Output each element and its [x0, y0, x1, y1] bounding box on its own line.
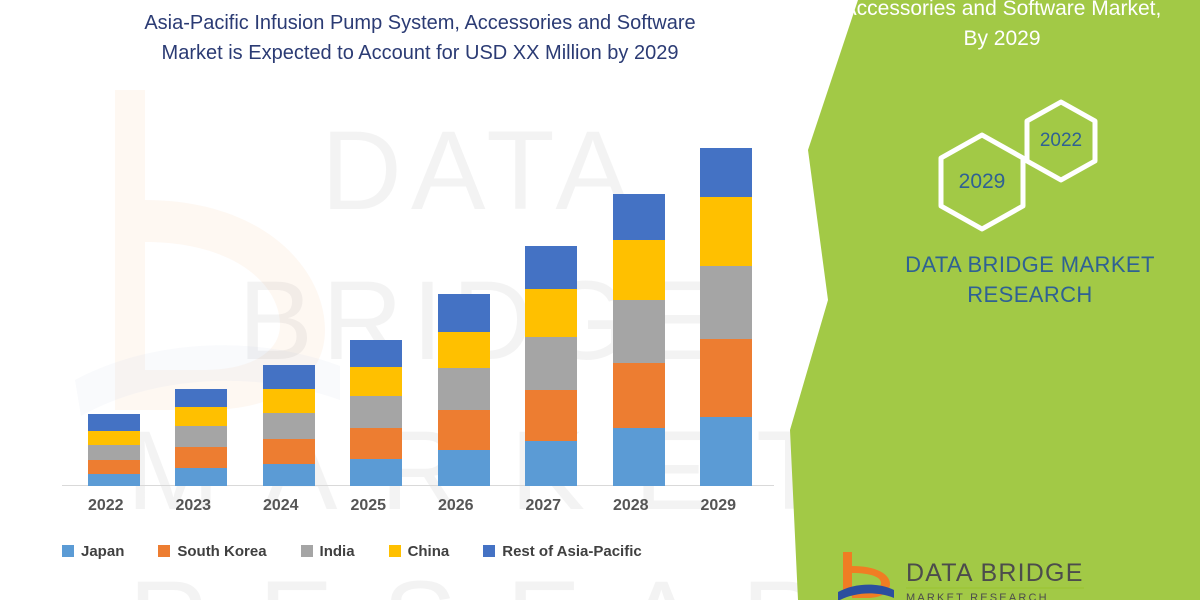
legend-label: India — [320, 543, 355, 560]
bar-segment-japan — [438, 450, 490, 486]
legend-swatch-icon — [389, 545, 401, 557]
legend-item-india[interactable]: India — [301, 543, 355, 560]
x-axis-label-2025: 2025 — [328, 497, 408, 515]
bar-segment-south-korea — [175, 447, 227, 467]
bar-segment-south-korea — [263, 439, 315, 464]
bar-segment-china — [263, 389, 315, 413]
bar-segment-india — [175, 426, 227, 447]
data-bridge-logo: DATA BRIDGE MARKET RESEARCH — [838, 552, 1084, 600]
bar-segment-india — [438, 368, 490, 409]
bar-segment-china — [438, 332, 490, 369]
infographic-page: DATA BRIDGE M A R K E T R E S E A R C H … — [0, 0, 1200, 600]
legend-label: Japan — [81, 543, 124, 560]
bar-segment-japan — [700, 417, 752, 486]
bar-segment-india — [700, 266, 752, 339]
bar-segment-china — [525, 289, 577, 337]
legend-label: China — [408, 543, 450, 560]
legend-item-china[interactable]: China — [389, 543, 450, 560]
x-axis-labels: 20222023202420252026202720282029 — [62, 497, 774, 523]
bar-2026 — [438, 294, 490, 486]
bar-segment-japan — [525, 441, 577, 486]
bar-segment-rest-of-asia-pacific — [525, 246, 577, 289]
bar-2025 — [350, 340, 402, 486]
x-axis-label-2026: 2026 — [416, 497, 496, 515]
bar-segment-india — [263, 413, 315, 439]
x-axis-label-2022: 2022 — [66, 497, 146, 515]
bar-segment-south-korea — [350, 428, 402, 459]
x-axis-label-2023: 2023 — [153, 497, 233, 515]
hexagon-2022-label: 2022 — [1018, 98, 1104, 184]
bar-segment-south-korea — [438, 410, 490, 451]
legend-swatch-icon — [62, 545, 74, 557]
legend-swatch-icon — [483, 545, 495, 557]
bar-segment-rest-of-asia-pacific — [438, 294, 490, 332]
bar-segment-india — [350, 396, 402, 428]
panel-brand-text: DATA BRIDGE MARKET RESEARCH — [880, 250, 1180, 310]
bar-segment-japan — [263, 464, 315, 486]
logo-subtitle: MARKET RESEARCH — [906, 587, 1084, 600]
bar-2022 — [88, 414, 140, 486]
bar-segment-rest-of-asia-pacific — [350, 340, 402, 367]
bar-segment-japan — [350, 459, 402, 486]
bar-segment-south-korea — [525, 390, 577, 441]
panel-title: Accessories and Software Market, By 2029 — [812, 0, 1192, 54]
bar-segment-south-korea — [613, 363, 665, 428]
bar-2027 — [525, 246, 577, 486]
bar-segment-south-korea — [700, 339, 752, 416]
legend-label: Rest of Asia-Pacific — [502, 543, 642, 560]
bar-segment-india — [88, 445, 140, 460]
legend-item-rest-of-asia-pacific[interactable]: Rest of Asia-Pacific — [483, 543, 642, 560]
bar-2024 — [263, 365, 315, 486]
bar-segment-china — [175, 407, 227, 426]
bar-segment-rest-of-asia-pacific — [613, 194, 665, 240]
legend-item-japan[interactable]: Japan — [62, 543, 124, 560]
bar-2029 — [700, 148, 752, 486]
bar-segment-rest-of-asia-pacific — [263, 365, 315, 388]
x-axis-label-2024: 2024 — [241, 497, 321, 515]
chart-legend: JapanSouth KoreaIndiaChinaRest of Asia-P… — [62, 538, 676, 564]
page-title: Asia-Pacific Infusion Pump System, Acces… — [70, 8, 770, 68]
bar-segment-india — [525, 337, 577, 389]
bar-segment-japan — [175, 468, 227, 486]
legend-label: South Korea — [177, 543, 266, 560]
bar-segment-india — [613, 300, 665, 364]
bar-segment-china — [88, 431, 140, 445]
logo-wordmark: DATA BRIDGE MARKET RESEARCH — [906, 552, 1084, 600]
bar-segment-china — [700, 197, 752, 266]
bar-segment-japan — [613, 428, 665, 486]
legend-swatch-icon — [158, 545, 170, 557]
x-axis-label-2027: 2027 — [503, 497, 583, 515]
legend-item-south-korea[interactable]: South Korea — [158, 543, 266, 560]
bar-segment-rest-of-asia-pacific — [175, 389, 227, 407]
bar-segment-japan — [88, 474, 140, 486]
x-axis-label-2029: 2029 — [678, 497, 758, 515]
stacked-bar-chart — [70, 100, 770, 486]
bar-segment-rest-of-asia-pacific — [88, 414, 140, 431]
legend-swatch-icon — [301, 545, 313, 557]
x-axis-label-2028: 2028 — [591, 497, 671, 515]
data-bridge-mark-icon — [838, 552, 894, 600]
logo-name: DATA BRIDGE — [906, 560, 1084, 586]
bar-segment-china — [350, 367, 402, 396]
bar-2023 — [175, 389, 227, 486]
bar-segment-rest-of-asia-pacific — [700, 148, 752, 196]
bar-2028 — [613, 194, 665, 486]
bar-segment-china — [613, 240, 665, 300]
bar-segment-south-korea — [88, 460, 140, 474]
